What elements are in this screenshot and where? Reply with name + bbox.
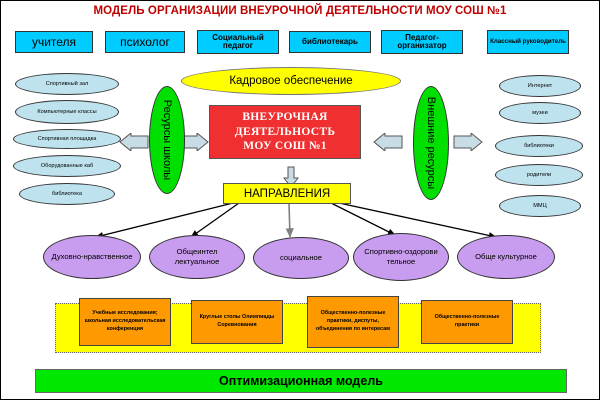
directions-box[interactable]: НАПРАВЛЕНИЯ [223,183,351,204]
direction-social[interactable]: социальное [253,237,349,279]
diagram-canvas: МОДЕЛЬ ОРГАНИЗАЦИИ ВНЕУРОЧНОЙ ДЕЯТЕЛЬНОС… [0,0,600,400]
activity-box-social-practices[interactable]: Общественно-полезные практики [421,300,513,344]
staff-box-librarian[interactable]: библиотекарь [289,31,371,53]
page-title: МОДЕЛЬ ОРГАНИЗАЦИИ ВНЕУРОЧНОЙ ДЕЯТЕЛЬНОС… [1,5,599,17]
school-resource-gym[interactable]: Спортивный зал [15,73,119,95]
external-resource-mmc[interactable]: ММЦ [499,195,581,217]
center-line-1: ВНЕУРОЧНАЯ [242,110,327,124]
staff-box-pedagogue-organizer[interactable]: Педагог-организатор [381,30,463,54]
school-resource-computer-classes[interactable]: Компьютерные классы [15,100,119,124]
external-resources-label: Внешние ресурсы [425,97,437,189]
staff-box-class-supervisor[interactable]: Классный руководитель [487,30,569,54]
optimization-model-bar[interactable]: Оптимизационная модель [35,369,567,393]
school-resource-equipped-rooms[interactable]: Оборудованные каб [13,155,121,177]
school-resources-label: Ресурсы школы [161,100,173,180]
direction-general-intellectual[interactable]: Общеинтел лектуальное [149,235,245,279]
external-resources-ellipse[interactable]: Внешние ресурсы [413,86,449,200]
arrow-external-to-center [373,133,403,151]
center-line-3: МОУ СОШ №1 [243,139,327,153]
arrow-external-to-list [453,133,483,151]
direction-spiritual-moral[interactable]: Духовно-нравственное [43,235,141,279]
arrow-resources-to-list [119,133,149,151]
center-extracurricular-box[interactable]: ВНЕУРОЧНАЯ ДЕЯТЕЛЬНОСТЬ МОУ СОШ №1 [209,105,361,159]
external-resource-parents[interactable]: родители [495,164,583,186]
external-resource-internet[interactable]: Интернет [499,75,581,97]
staffing-ellipse[interactable]: Кадровое обеспечение [181,67,401,95]
school-resources-ellipse[interactable]: Ресурсы школы [149,86,185,194]
external-resource-museums[interactable]: музеи [499,102,581,124]
activity-box-research[interactable]: Учебные исследования; школьная исследова… [79,298,171,346]
activity-box-roundtables[interactable]: Круглые столы Олимпиады Соревнования [191,300,283,344]
direction-general-cultural[interactable]: Обще культурное [457,235,555,279]
staff-box-psychologist[interactable]: психолог [105,31,185,53]
external-resource-libraries[interactable]: библиотеки [495,135,583,157]
center-line-2: ДЕЯТЕЛЬНОСТЬ [235,125,335,139]
school-resource-library[interactable]: библиотека [19,183,115,205]
direction-sports-health[interactable]: Спортивно-оздорови тельное [353,233,449,281]
activity-box-social-practices-disputes[interactable]: Общественно-полезные практики, диспуты, … [307,296,399,348]
staff-box-social-teacher[interactable]: Социальный педагог [197,30,279,54]
school-resource-sports-ground[interactable]: Спортивная площадка [13,129,121,149]
staff-box-teachers[interactable]: учителя [15,31,93,53]
